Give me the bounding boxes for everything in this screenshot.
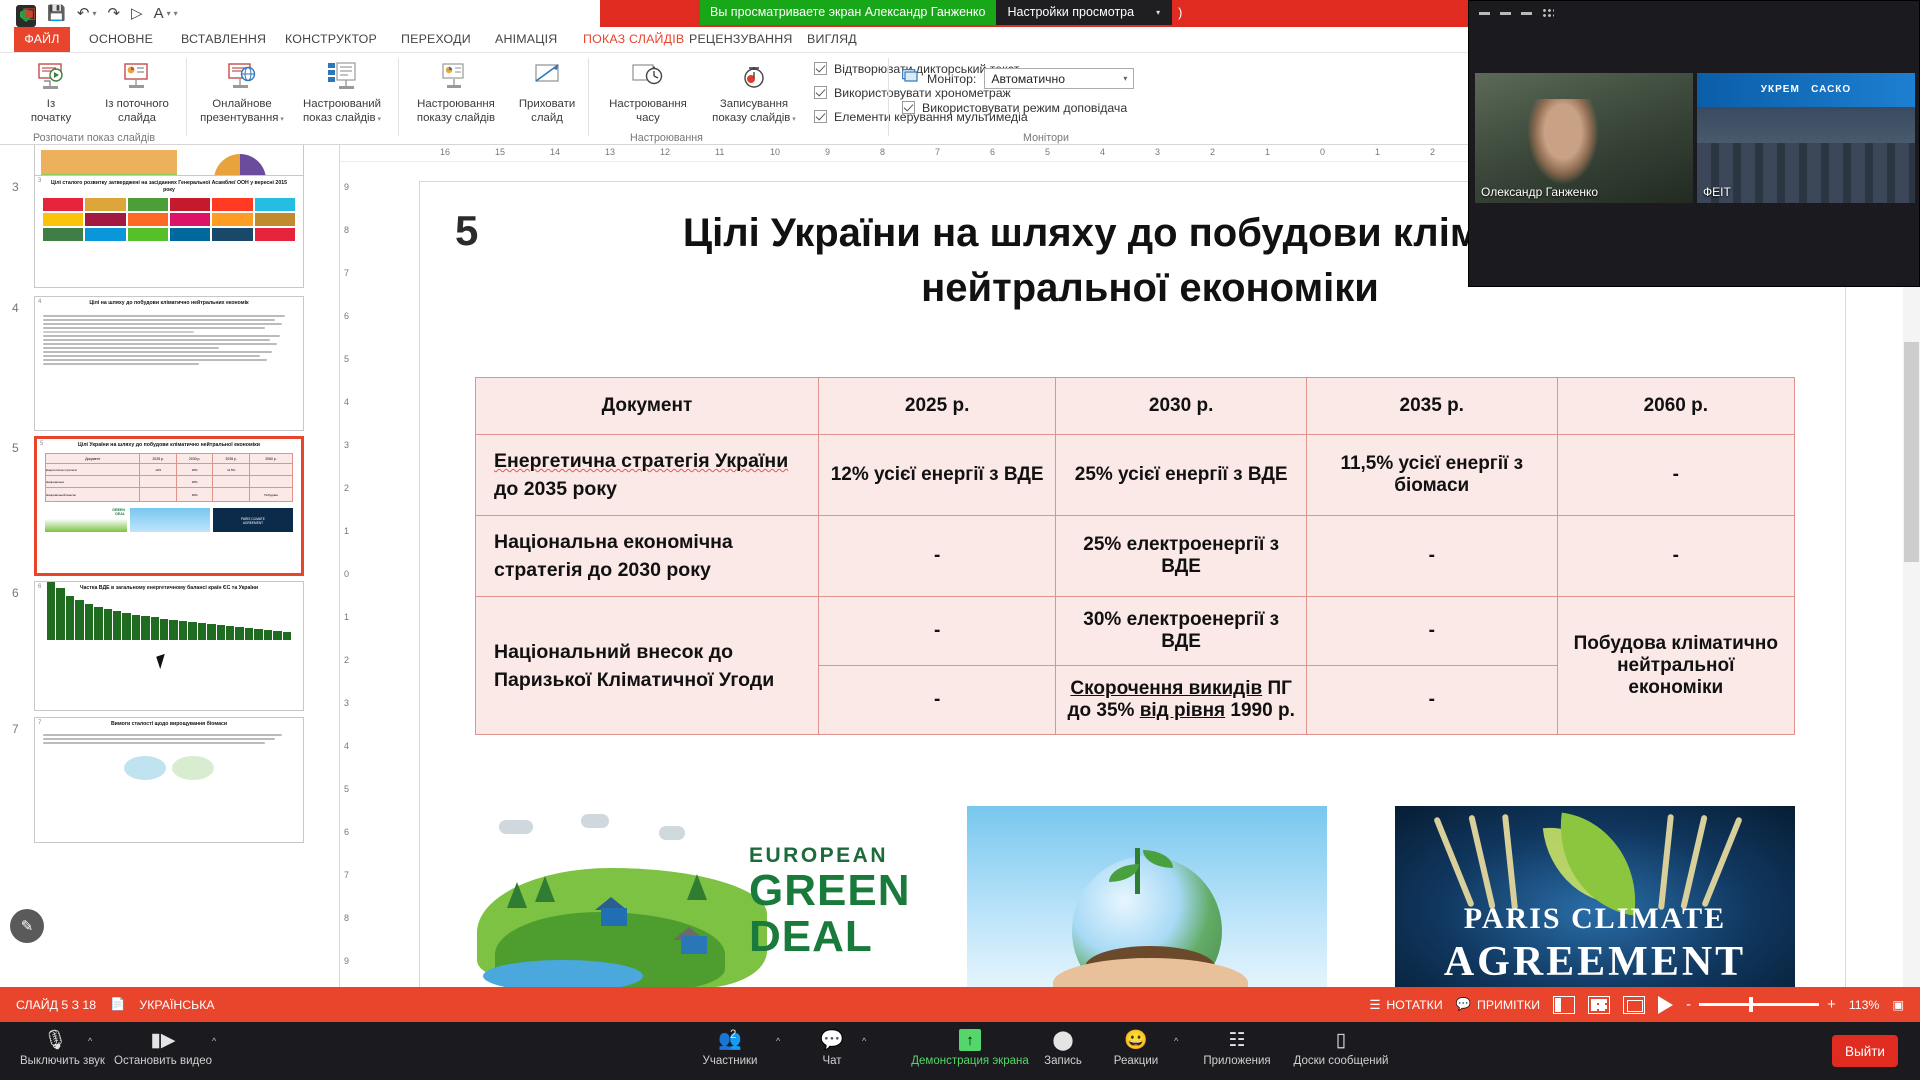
ribbon-group-setup: Настроювання показу слайдів Приховати сл… — [404, 52, 929, 145]
banner-tail: ) — [1172, 6, 1182, 20]
custom-slideshow-icon — [292, 56, 392, 98]
comment-icon: 💬 — [1456, 997, 1471, 1012]
th-2030: 2030 р. — [1056, 378, 1307, 435]
ruler-tick: 4 — [344, 397, 349, 407]
th-2035: 2035 р. — [1306, 378, 1557, 435]
zoom-handle[interactable] — [1749, 997, 1753, 1012]
button-rehearse-timings[interactable]: Настроювання часу — [596, 56, 700, 125]
thumbnail-slide-7[interactable]: 7 Вимоги сталості щодо вирощування біома… — [34, 717, 304, 843]
record-icon: ⬤ — [1028, 1027, 1098, 1053]
customize-qat-icon[interactable]: ▾ — [174, 10, 178, 18]
ruler-tick: 3 — [344, 440, 349, 450]
tab-transitions[interactable]: ПЕРЕХОДИ — [388, 27, 484, 52]
monitor-row: Монітор: Автоматично ▾ — [902, 68, 1134, 89]
cell-2035-1: 11,5% усієї енергії з біомаси — [1306, 435, 1557, 516]
tab-design[interactable]: КОНСТРУКТОР — [272, 27, 390, 52]
zoom-reactions-label: Реакции — [1100, 1055, 1172, 1067]
participant-tile[interactable]: УКРЕМ САСКО ФЕІТ — [1697, 73, 1915, 203]
zoom-meeting-toolbar: 🎙 Выключить звук ^ ▮▶ Остановить видео ^… — [0, 1022, 1920, 1080]
whiteboard-icon: ▯ — [1282, 1027, 1400, 1053]
video-options-chevron-icon[interactable]: ^ — [212, 1036, 216, 1046]
cell-document-3: Національний внесок до Паризької Клімати… — [476, 597, 819, 735]
button-from-current-slide[interactable]: Із поточного слайда — [94, 56, 180, 125]
screenshare-status-label: Вы просматриваете экран Александр Ганжен… — [700, 0, 996, 25]
chevron-down-icon[interactable]: ▾ — [1156, 8, 1160, 17]
button-label-line2: початку — [8, 112, 94, 126]
ruler-tick: 15 — [495, 147, 505, 157]
button-label-line2: презентування ▾ — [192, 112, 292, 127]
ribbon-group-monitors: Монітор: Автоматично ▾ Використовувати р… — [896, 52, 1196, 145]
tab-file[interactable]: ФАЙЛ — [14, 27, 70, 52]
cell-2060-3: Побудова кліматично нейтральної економік… — [1557, 597, 1794, 735]
chevron-down-icon[interactable]: ▾ — [790, 116, 795, 123]
thumbnail-item[interactable]: 4 4 Цілі на шляху до побудови кліматично… — [0, 292, 339, 432]
cell-2060-1: - — [1557, 435, 1794, 516]
checkbox-icon[interactable] — [814, 110, 827, 123]
thumbnail-title: Вимоги сталості щодо вирощування біомаси — [35, 718, 303, 728]
thumbnail-number: 4 — [12, 301, 19, 315]
canvas-scrollbar-thumb[interactable] — [1904, 342, 1919, 562]
th-2025: 2025 р. — [818, 378, 1055, 435]
ruler-tick: 4 — [344, 741, 349, 751]
restore-icon[interactable] — [1521, 12, 1532, 15]
cell-2025-4: - — [818, 666, 1055, 735]
button-label-line1: Настроюваний — [292, 98, 392, 112]
tab-home[interactable]: ОСНОВНЕ — [76, 27, 166, 52]
ruler-tick: 6 — [344, 827, 349, 837]
notes-label: НОТАТКИ — [1386, 998, 1442, 1012]
slideshow-from-start-icon — [8, 56, 94, 98]
doc-name-rest: до 2035 року — [494, 478, 617, 500]
cell-2030-2: 25% електроенергії з ВДЕ — [1056, 516, 1307, 597]
present-online-icon — [192, 56, 292, 98]
notes-icon: ☰ — [1369, 998, 1380, 1012]
zoom-video-panel[interactable]: Олександр Ганженко УКРЕМ САСКО ФЕІТ — [1468, 0, 1920, 287]
button-present-online[interactable]: Онлайнове презентування ▾ — [192, 56, 292, 126]
thumbnail-title: Цілі на шляху до побудови кліматично ней… — [35, 297, 303, 307]
ruler-tick: 1 — [344, 526, 349, 536]
checkbox-label: Використовувати режим доповідача — [922, 101, 1127, 115]
view-normal-button[interactable] — [1553, 996, 1575, 1014]
ruler-tick: 5 — [1045, 147, 1050, 157]
thumbnail-item[interactable]: 5 5 Цілі України на шляху до побудови кл… — [0, 432, 339, 577]
ruler-tick: 8 — [344, 225, 349, 235]
ruler-tick: 2 — [344, 483, 349, 493]
zoom-record-button[interactable]: ⬤ Запись — [1028, 1027, 1098, 1067]
maximize-icon[interactable] — [1500, 12, 1511, 15]
slide-number-text: 5 — [455, 207, 478, 255]
checkbox-presenter-view[interactable]: Використовувати режим доповідача — [902, 98, 1134, 117]
thumbnail-number: 5 — [12, 441, 19, 455]
mute-options-chevron-icon[interactable]: ^ — [88, 1036, 92, 1046]
zoom-track[interactable] — [1699, 1003, 1819, 1006]
button-label-line2: часу — [596, 112, 700, 126]
table-row: Енергетична стратегія України до 2035 ро… — [476, 435, 1795, 516]
table-row: Національний внесок до Паризької Клімати… — [476, 597, 1795, 666]
zoom-mute-button[interactable]: 🎙 Выключить звук — [20, 1027, 90, 1067]
ruler-tick: 4 — [1100, 147, 1105, 157]
redo-icon[interactable]: ↷ — [107, 6, 120, 21]
tab-review[interactable]: РЕЦЕНЗУВАННЯ — [676, 27, 806, 52]
ruler-tick: 10 — [770, 147, 780, 157]
ruler-tick: 13 — [605, 147, 615, 157]
ruler-tick: 1 — [344, 612, 349, 622]
tab-view[interactable]: ВИГЛЯД — [794, 27, 870, 52]
paris-text-line2: AGREEMENT — [1395, 938, 1795, 986]
zoom-apps-label: Приложения — [1190, 1055, 1284, 1067]
button-label-line1: Із — [8, 98, 94, 112]
slideshow-from-current-icon — [94, 56, 180, 98]
monitor-select-value: Автоматично — [991, 72, 1123, 86]
ruler-tick: 9 — [344, 182, 349, 192]
button-label-line2: показу слайдів ▾ — [700, 112, 808, 127]
participants-count-badge: 2 — [730, 1029, 736, 1041]
vertical-ruler: 9876543210123456789 — [340, 162, 357, 987]
record-slideshow-icon — [700, 56, 808, 98]
checkbox-icon[interactable] — [814, 86, 827, 99]
ruler-tick: 0 — [344, 569, 349, 579]
cell-2035-4: - — [1306, 666, 1557, 735]
view-options-label: Настройки просмотра — [1008, 5, 1135, 19]
thumbnail-number: 6 — [12, 586, 19, 600]
thumbnail-item[interactable]: 6 6 Частка ВДЕ в загальному енергетичном… — [0, 577, 339, 713]
chat-chevron-icon[interactable]: ^ — [862, 1036, 866, 1046]
slide-title-line2: нейтральної економіки — [921, 266, 1379, 310]
button-label-line1: Приховати — [508, 98, 586, 112]
button-setup-slideshow[interactable]: Настроювання показу слайдів — [404, 56, 508, 125]
button-label-line2: показу слайдів — [404, 112, 508, 126]
cell-document-1: Енергетична стратегія України до 2035 ро… — [476, 435, 819, 516]
powerpoint-icon: ▣ — [22, 6, 36, 21]
monitor-label: Монітор: — [927, 72, 976, 86]
ribbon-group-start-slideshow: Із початку — [6, 52, 182, 145]
cell-2060-2: - — [1557, 516, 1794, 597]
microphone-icon: 🎙 — [20, 1027, 90, 1053]
table-row: Національна економічна стратегія до 2030… — [476, 516, 1795, 597]
pen-tool-icon[interactable]: ✎ — [10, 909, 44, 943]
zoom-level-label[interactable]: 113% — [1849, 998, 1880, 1012]
monitor-select[interactable]: Автоматично ▾ — [984, 68, 1134, 89]
thumbnail-item[interactable]: 3 3 Цілі сталого розвитку затверджені на… — [0, 171, 339, 292]
participant-name: ФЕІТ — [1703, 185, 1731, 199]
thumbnail-item[interactable]: 7 7 Вимоги сталості щодо вирощування біо… — [0, 713, 339, 843]
thumbnail-slide-5[interactable]: 5 Цілі України на шляху до побудови клім… — [34, 436, 304, 576]
start-slideshow-icon[interactable]: ▷ — [131, 6, 143, 21]
paris-text-line1: PARIS CLIMATE — [1395, 902, 1795, 936]
chevron-down-icon[interactable]: ▾ — [376, 116, 381, 123]
ribbon-group-present: Онлайнове презентування ▾ — [192, 52, 392, 145]
view-slideshow-button[interactable] — [1658, 996, 1673, 1014]
thumbnail-title: Цілі України на шляху до побудови клімат… — [37, 439, 301, 449]
ruler-tick: 3 — [344, 698, 349, 708]
ribbon-group-label: Розпочати показ слайдів — [6, 132, 182, 144]
zoom-video-label: Остановить видео — [108, 1055, 218, 1067]
chevron-down-icon[interactable]: ▾ — [1123, 74, 1127, 83]
zoom-apps-button[interactable]: ☷ Приложения — [1190, 1027, 1284, 1067]
view-slide-sorter-button[interactable] — [1588, 996, 1610, 1014]
screen: ▣ 💾 ↶ ▾ ↷ ▷ A ▾ ▾ Вы просматриваете экра… — [0, 0, 1920, 1080]
reactions-chevron-icon[interactable]: ^ — [1174, 1036, 1178, 1046]
zoom-leave-button[interactable]: Выйти — [1832, 1035, 1898, 1067]
participant-tile[interactable]: Олександр Ганженко — [1475, 73, 1693, 203]
cell-2030-4: Скорочення викидів ПГ до 35% від рівня 1… — [1056, 666, 1307, 735]
view-reading-button[interactable] — [1623, 996, 1645, 1014]
zoom-share-label: Демонстрация экрана — [890, 1055, 1050, 1067]
ruler-tick: 7 — [344, 268, 349, 278]
slideshow-view-icon — [1658, 996, 1673, 1014]
ruler-tick: 16 — [440, 147, 450, 157]
cell-2030-3: 30% електроенергії з ВДЕ — [1056, 597, 1307, 666]
ribbon-group-label: Настроювання — [404, 132, 929, 144]
cell-2030-1: 25% усієї енергії з ВДЕ — [1056, 435, 1307, 516]
checkbox-icon[interactable] — [814, 62, 827, 75]
thumbnail-number: 3 — [12, 180, 19, 194]
button-label-line1: Записування — [700, 98, 808, 112]
zoom-in-button[interactable]: + — [1827, 997, 1836, 1012]
cell-2035-2: - — [1306, 516, 1557, 597]
ruler-tick: 2 — [1210, 147, 1215, 157]
egd-text-small: EUROPEAN — [749, 844, 888, 868]
ruler-tick: 8 — [880, 147, 885, 157]
normal-view-icon — [1553, 996, 1575, 1014]
undo-dropdown-icon[interactable]: ▾ — [92, 10, 96, 18]
ruler-tick: 7 — [935, 147, 940, 157]
share-screen-icon: ↑ — [890, 1027, 1050, 1053]
fit-to-window-icon[interactable]: ▣ — [1892, 998, 1904, 1012]
zoom-participant-tiles: Олександр Ганженко УКРЕМ САСКО ФЕІТ — [1469, 73, 1920, 203]
th-document: Документ — [476, 378, 819, 435]
comments-button[interactable]: 💬 ПРИМІТКИ — [1456, 997, 1540, 1012]
doc-name-underlined: Енергетична стратегія України — [494, 450, 788, 472]
thumbnail-slide-6[interactable]: 6 Частка ВДЕ в загальному енергетичному … — [34, 581, 304, 711]
button-label-line1: Настроювання — [404, 98, 508, 112]
button-record-slideshow[interactable]: Записування показу слайдів ▾ — [700, 56, 808, 126]
view-options-button[interactable]: Настройки просмотра ▾ — [996, 0, 1173, 25]
status-bar: СЛАЙД 5 З 18 📄 УКРАЇНСЬКА ☰ НОТАТКИ 💬 ПР… — [0, 987, 1920, 1022]
checkbox-icon[interactable] — [902, 101, 915, 114]
cell-2035-3: - — [1306, 597, 1557, 666]
zoom-participants-label: Участники — [690, 1055, 770, 1067]
button-label-line1: Настроювання — [596, 98, 700, 112]
ruler-tick: 12 — [660, 147, 670, 157]
zoom-slider[interactable]: - + — [1686, 997, 1836, 1012]
goals-table[interactable]: Документ 2025 р. 2030 р. 2035 р. 2060 р.… — [475, 377, 1795, 735]
egd-text-big: GREENDEAL — [749, 868, 907, 960]
zoom-screenshare-banner: Вы просматриваете экран Александр Ганжен… — [700, 0, 1182, 25]
ruler-tick: 6 — [344, 311, 349, 321]
paris-climate-agreement-image: PARIS CLIMATE AGREEMENT — [1395, 806, 1795, 996]
button-label-line1: Із поточного — [94, 98, 180, 112]
zoom-chat-button[interactable]: 💬 Чат — [806, 1027, 858, 1067]
ruler-tick: 5 — [344, 784, 349, 794]
zoom-mute-label: Выключить звук — [20, 1055, 90, 1067]
ruler-tick: 3 — [1155, 147, 1160, 157]
ruler-tick: 11 — [715, 147, 724, 157]
tab-animations[interactable]: АНІМАЦІЯ — [482, 27, 570, 52]
view-layout-icon[interactable] — [1542, 8, 1554, 18]
button-custom-slideshow[interactable]: Настроюваний показ слайдів ▾ — [292, 56, 392, 126]
spellcheck-icon[interactable]: 📄 — [110, 997, 125, 1012]
ruler-tick: 0 — [1320, 147, 1325, 157]
button-label-line2: слайда — [94, 112, 180, 126]
participant-name: Олександр Ганженко — [1481, 185, 1598, 199]
thumbnail-slide-3[interactable]: 3 Цілі сталого розвитку затверджені на з… — [34, 175, 304, 288]
globe-plant-hand-image — [967, 806, 1327, 996]
minimize-icon[interactable] — [1479, 12, 1490, 15]
ruler-tick: 5 — [344, 354, 349, 364]
slide-sorter-icon — [1588, 996, 1610, 1014]
button-label-line2: показ слайдів ▾ — [292, 112, 392, 127]
chat-icon: 💬 — [806, 1027, 858, 1053]
ruler-tick: 9 — [825, 147, 830, 157]
european-green-deal-image: EUROPEAN GREENDEAL — [477, 806, 907, 996]
thumbnail-title: Цілі сталого розвитку затверджені на зас… — [35, 177, 303, 194]
setup-slideshow-icon — [404, 56, 508, 98]
apps-icon: ☷ — [1190, 1027, 1284, 1053]
comments-label: ПРИМІТКИ — [1477, 998, 1540, 1012]
table-header-row: Документ 2025 р. 2030 р. 2035 р. 2060 р. — [476, 378, 1795, 435]
zoom-record-label: Запись — [1028, 1055, 1098, 1067]
cell-2025-1: 12% усієї енергії з ВДЕ — [818, 435, 1055, 516]
zoom-out-button[interactable]: - — [1686, 997, 1691, 1012]
monitor-icon — [902, 69, 919, 89]
ruler-tick: 1 — [1375, 147, 1380, 157]
notes-button[interactable]: ☰ НОТАТКИ — [1369, 998, 1442, 1012]
cell-2025-2: - — [818, 516, 1055, 597]
reactions-icon: 😀 — [1100, 1027, 1172, 1053]
ribbon-group-label: Монітори — [896, 132, 1196, 144]
room-banner: УКРЕМ САСКО — [1697, 73, 1915, 107]
button-label-line1: Онлайнове — [192, 98, 292, 112]
ruler-tick: 14 — [550, 147, 560, 157]
cell-2025-3: - — [818, 597, 1055, 666]
zoom-share-screen-button[interactable]: ↑ Демонстрация экрана — [890, 1027, 1050, 1067]
hide-slide-icon — [508, 56, 586, 98]
zoom-reactions-button[interactable]: 😀 Реакции — [1100, 1027, 1172, 1067]
zoom-video-button[interactable]: ▮▶ Остановить видео — [108, 1027, 218, 1067]
font-icon[interactable]: A — [154, 6, 164, 21]
ruler-tick: 7 — [344, 870, 349, 880]
ruler-tick: 2 — [1430, 147, 1435, 157]
slide-canvas[interactable]: 5 Цілі України на шляху до побудови клім… — [420, 182, 1845, 1008]
button-label-line2: слайд — [508, 112, 586, 126]
zoom-whiteboard-label: Доски сообщений — [1282, 1055, 1400, 1067]
zoom-whiteboard-button[interactable]: ▯ Доски сообщений — [1282, 1027, 1400, 1067]
zoom-chat-label: Чат — [806, 1055, 858, 1067]
thumbnail-body — [35, 307, 303, 371]
thumbnail-slide-4[interactable]: 4 Цілі на шляху до побудови кліматично н… — [34, 296, 304, 431]
th-2060: 2060 р. — [1557, 378, 1794, 435]
slide-images-row: EUROPEAN GREENDEAL — [475, 806, 1795, 996]
language-indicator[interactable]: УКРАЇНСЬКА — [139, 998, 214, 1012]
video-camera-icon: ▮▶ — [108, 1027, 218, 1053]
button-from-beginning[interactable]: Із початку — [8, 56, 94, 125]
thumbnail-title: Частка ВДЕ в загальному енергетичному ба… — [35, 582, 303, 592]
cell-document-2: Національна економічна стратегія до 2030… — [476, 516, 819, 597]
slide-thumbnail-pane[interactable]: 3 3 Цілі сталого розвитку затверджені на… — [0, 145, 340, 987]
thumbnail-number: 7 — [12, 722, 19, 736]
font-dropdown-icon[interactable]: ▾ — [167, 10, 171, 18]
ruler-tick: 6 — [990, 147, 995, 157]
chevron-down-icon[interactable]: ▾ — [278, 116, 283, 123]
zoom-participants-button[interactable]: 👥 2 Участники — [690, 1027, 770, 1067]
ruler-tick: 2 — [344, 655, 349, 665]
tab-insert[interactable]: ВСТАВЛЕННЯ — [168, 27, 279, 52]
participants-chevron-icon[interactable]: ^ — [776, 1036, 780, 1046]
undo-icon[interactable]: ↶ — [77, 6, 90, 21]
rehearse-timings-icon — [596, 56, 700, 98]
ruler-tick: 9 — [344, 956, 349, 966]
reading-view-icon — [1623, 996, 1645, 1014]
participants-icon: 👥 2 — [690, 1027, 770, 1053]
button-hide-slide[interactable]: Приховати слайд — [508, 56, 586, 125]
thumbnail-item[interactable] — [0, 145, 339, 171]
slide-counter: СЛАЙД 5 З 18 — [16, 998, 96, 1012]
ruler-tick: 1 — [1265, 147, 1270, 157]
save-icon[interactable]: 💾 — [47, 6, 66, 21]
zoom-panel-controls — [1469, 1, 1919, 25]
ruler-tick: 8 — [344, 913, 349, 923]
